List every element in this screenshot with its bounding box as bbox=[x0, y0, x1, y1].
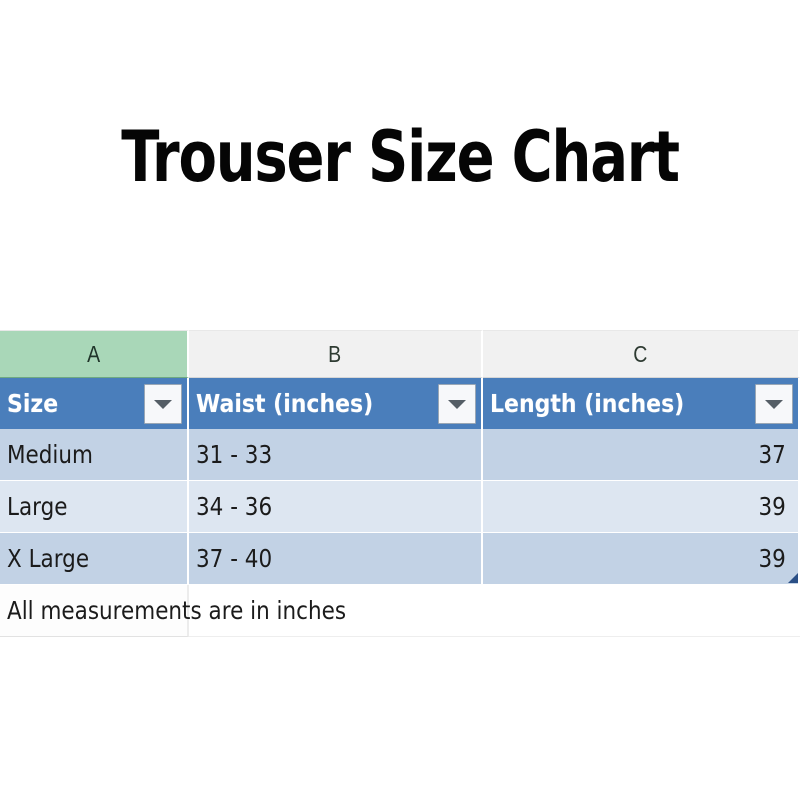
footer-note-row: All measurements are in inches bbox=[0, 585, 800, 637]
table-header-waist[interactable]: Waist (inches) bbox=[189, 378, 483, 429]
cell-size[interactable]: Large bbox=[0, 481, 189, 533]
column-header-b[interactable]: B bbox=[189, 330, 483, 378]
footer-note-cell[interactable]: All measurements are in inches bbox=[0, 585, 189, 637]
chevron-down-icon bbox=[448, 400, 466, 409]
table-header-waist-label: Waist (inches) bbox=[196, 389, 373, 418]
cell-length-value: 39 bbox=[759, 544, 786, 573]
table-header-length[interactable]: Length (inches) bbox=[483, 378, 800, 429]
cell-length-value: 39 bbox=[759, 492, 786, 521]
filter-dropdown-length[interactable] bbox=[755, 384, 793, 424]
filter-dropdown-waist[interactable] bbox=[438, 384, 476, 424]
cell-waist[interactable]: 34 - 36 bbox=[189, 481, 483, 533]
table-row[interactable]: Large 34 - 36 39 bbox=[0, 481, 800, 533]
column-letter-row: A B C bbox=[0, 330, 800, 378]
column-header-a[interactable]: A bbox=[0, 330, 189, 378]
cell-length[interactable]: 39 bbox=[483, 533, 800, 585]
table-header-size[interactable]: Size bbox=[0, 378, 189, 429]
resize-corner-icon[interactable] bbox=[788, 573, 798, 583]
footer-spacer-c[interactable] bbox=[483, 585, 800, 637]
column-header-b-label: B bbox=[328, 341, 341, 368]
table-header-size-label: Size bbox=[7, 389, 58, 418]
page-title: Trouser Size Chart bbox=[80, 118, 720, 196]
cell-waist-value: 37 - 40 bbox=[196, 544, 272, 573]
cell-waist[interactable]: 37 - 40 bbox=[189, 533, 483, 585]
cell-size[interactable]: Medium bbox=[0, 429, 189, 481]
cell-size-value: X Large bbox=[7, 544, 89, 573]
cell-size-value: Medium bbox=[7, 440, 93, 469]
table-row[interactable]: X Large 37 - 40 39 bbox=[0, 533, 800, 585]
cell-length[interactable]: 37 bbox=[483, 429, 800, 481]
chevron-down-icon bbox=[765, 400, 783, 409]
spreadsheet-table: A B C Size Waist (inches) Length (inches… bbox=[0, 330, 800, 637]
cell-waist[interactable]: 31 - 33 bbox=[189, 429, 483, 481]
cell-size[interactable]: X Large bbox=[0, 533, 189, 585]
cell-waist-value: 31 - 33 bbox=[196, 440, 272, 469]
table-header-length-label: Length (inches) bbox=[490, 389, 684, 418]
cell-waist-value: 34 - 36 bbox=[196, 492, 272, 521]
filter-dropdown-size[interactable] bbox=[144, 384, 182, 424]
table-row[interactable]: Medium 31 - 33 37 bbox=[0, 429, 800, 481]
column-header-c[interactable]: C bbox=[483, 330, 800, 378]
cell-size-value: Large bbox=[7, 492, 67, 521]
column-header-a-label: A bbox=[87, 341, 100, 368]
column-header-c-label: C bbox=[633, 341, 647, 368]
cell-length-value: 37 bbox=[759, 440, 786, 469]
cell-length[interactable]: 39 bbox=[483, 481, 800, 533]
footer-note-text: All measurements are in inches bbox=[7, 596, 346, 625]
chevron-down-icon bbox=[154, 400, 172, 409]
table-header-row: Size Waist (inches) Length (inches) bbox=[0, 378, 800, 429]
